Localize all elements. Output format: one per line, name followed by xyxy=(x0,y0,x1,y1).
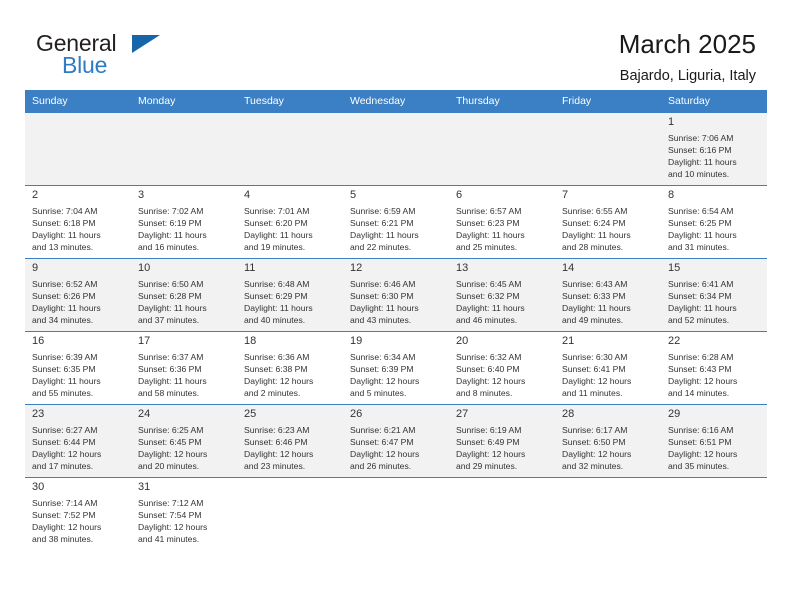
day-cell-content xyxy=(661,478,767,551)
day-number: 22 xyxy=(661,332,767,351)
sun-times-detail: Sunrise: 6:41 AM Sunset: 6:34 PM Dayligh… xyxy=(661,278,767,327)
calendar-day-cell[interactable]: 7Sunrise: 6:55 AM Sunset: 6:24 PM Daylig… xyxy=(555,186,661,259)
day-cell-content: 15Sunrise: 6:41 AM Sunset: 6:34 PM Dayli… xyxy=(661,259,767,331)
day-number: 9 xyxy=(25,259,131,278)
calendar-day-cell[interactable]: 25Sunrise: 6:23 AM Sunset: 6:46 PM Dayli… xyxy=(237,405,343,478)
logo-text-blue: Blue xyxy=(62,54,107,77)
calendar-day-cell[interactable]: 18Sunrise: 6:36 AM Sunset: 6:38 PM Dayli… xyxy=(237,332,343,405)
calendar-day-cell[interactable]: 28Sunrise: 6:17 AM Sunset: 6:50 PM Dayli… xyxy=(555,405,661,478)
day-number: 5 xyxy=(343,186,449,205)
day-number: 14 xyxy=(555,259,661,278)
day-cell-content: 4Sunrise: 7:01 AM Sunset: 6:20 PM Daylig… xyxy=(237,186,343,258)
day-cell-content: 19Sunrise: 6:34 AM Sunset: 6:39 PM Dayli… xyxy=(343,332,449,404)
sun-times-detail: Sunrise: 6:45 AM Sunset: 6:32 PM Dayligh… xyxy=(449,278,555,327)
day-cell-content xyxy=(343,478,449,551)
sunrise-sunset-calendar: Sunday Monday Tuesday Wednesday Thursday… xyxy=(25,90,767,551)
calendar-day-cell[interactable]: 24Sunrise: 6:25 AM Sunset: 6:45 PM Dayli… xyxy=(131,405,237,478)
calendar-week-row: 1Sunrise: 7:06 AM Sunset: 6:16 PM Daylig… xyxy=(25,113,767,186)
day-number: 13 xyxy=(449,259,555,278)
calendar-day-cell[interactable]: 10Sunrise: 6:50 AM Sunset: 6:28 PM Dayli… xyxy=(131,259,237,332)
calendar-day-cell[interactable]: 19Sunrise: 6:34 AM Sunset: 6:39 PM Dayli… xyxy=(343,332,449,405)
sun-times-detail: Sunrise: 6:32 AM Sunset: 6:40 PM Dayligh… xyxy=(449,351,555,400)
sun-times-detail: Sunrise: 7:12 AM Sunset: 7:54 PM Dayligh… xyxy=(131,497,237,546)
day-cell-content: 27Sunrise: 6:19 AM Sunset: 6:49 PM Dayli… xyxy=(449,405,555,477)
weekday-header-sunday: Sunday xyxy=(25,90,131,113)
page-title: March 2025 xyxy=(619,30,756,60)
calendar-day-cell[interactable]: 14Sunrise: 6:43 AM Sunset: 6:33 PM Dayli… xyxy=(555,259,661,332)
calendar-page: General Blue March 2025 Bajardo, Liguria… xyxy=(0,0,792,612)
calendar-day-cell[interactable]: 15Sunrise: 6:41 AM Sunset: 6:34 PM Dayli… xyxy=(661,259,767,332)
calendar-week-row: 16Sunrise: 6:39 AM Sunset: 6:35 PM Dayli… xyxy=(25,332,767,405)
day-number: 26 xyxy=(343,405,449,424)
day-cell-content: 10Sunrise: 6:50 AM Sunset: 6:28 PM Dayli… xyxy=(131,259,237,331)
title-block: March 2025 Bajardo, Liguria, Italy xyxy=(619,30,756,84)
day-cell-content: 17Sunrise: 6:37 AM Sunset: 6:36 PM Dayli… xyxy=(131,332,237,404)
calendar-day-cell[interactable]: 11Sunrise: 6:48 AM Sunset: 6:29 PM Dayli… xyxy=(237,259,343,332)
day-cell-content: 16Sunrise: 6:39 AM Sunset: 6:35 PM Dayli… xyxy=(25,332,131,404)
calendar-day-cell[interactable]: 17Sunrise: 6:37 AM Sunset: 6:36 PM Dayli… xyxy=(131,332,237,405)
day-number: 18 xyxy=(237,332,343,351)
calendar-day-cell[interactable]: 26Sunrise: 6:21 AM Sunset: 6:47 PM Dayli… xyxy=(343,405,449,478)
day-number: 31 xyxy=(131,478,237,497)
sun-times-detail: Sunrise: 6:48 AM Sunset: 6:29 PM Dayligh… xyxy=(237,278,343,327)
day-cell-content: 2Sunrise: 7:04 AM Sunset: 6:18 PM Daylig… xyxy=(25,186,131,258)
calendar-day-cell[interactable]: 3Sunrise: 7:02 AM Sunset: 6:19 PM Daylig… xyxy=(131,186,237,259)
day-number: 25 xyxy=(237,405,343,424)
day-number: 23 xyxy=(25,405,131,424)
day-cell-content: 14Sunrise: 6:43 AM Sunset: 6:33 PM Dayli… xyxy=(555,259,661,331)
day-number: 3 xyxy=(131,186,237,205)
sun-times-detail: Sunrise: 6:25 AM Sunset: 6:45 PM Dayligh… xyxy=(131,424,237,473)
sun-times-detail: Sunrise: 6:52 AM Sunset: 6:26 PM Dayligh… xyxy=(25,278,131,327)
day-cell-content xyxy=(237,113,343,185)
sun-times-detail: Sunrise: 6:34 AM Sunset: 6:39 PM Dayligh… xyxy=(343,351,449,400)
sun-times-detail: Sunrise: 6:19 AM Sunset: 6:49 PM Dayligh… xyxy=(449,424,555,473)
location-subtitle: Bajardo, Liguria, Italy xyxy=(619,68,756,84)
triangle-icon xyxy=(132,35,160,53)
day-cell-content: 20Sunrise: 6:32 AM Sunset: 6:40 PM Dayli… xyxy=(449,332,555,404)
calendar-body: 1Sunrise: 7:06 AM Sunset: 6:16 PM Daylig… xyxy=(25,113,767,551)
day-cell-content: 6Sunrise: 6:57 AM Sunset: 6:23 PM Daylig… xyxy=(449,186,555,258)
day-number: 20 xyxy=(449,332,555,351)
sun-times-detail: Sunrise: 7:04 AM Sunset: 6:18 PM Dayligh… xyxy=(25,205,131,254)
day-cell-content: 22Sunrise: 6:28 AM Sunset: 6:43 PM Dayli… xyxy=(661,332,767,404)
sun-times-detail: Sunrise: 6:30 AM Sunset: 6:41 PM Dayligh… xyxy=(555,351,661,400)
sun-times-detail: Sunrise: 6:57 AM Sunset: 6:23 PM Dayligh… xyxy=(449,205,555,254)
calendar-day-cell[interactable]: 23Sunrise: 6:27 AM Sunset: 6:44 PM Dayli… xyxy=(25,405,131,478)
day-number: 21 xyxy=(555,332,661,351)
calendar-week-row: 23Sunrise: 6:27 AM Sunset: 6:44 PM Dayli… xyxy=(25,405,767,478)
day-cell-content: 3Sunrise: 7:02 AM Sunset: 6:19 PM Daylig… xyxy=(131,186,237,258)
day-cell-content: 30Sunrise: 7:14 AM Sunset: 7:52 PM Dayli… xyxy=(25,478,131,551)
day-number: 17 xyxy=(131,332,237,351)
calendar-week-row: 30Sunrise: 7:14 AM Sunset: 7:52 PM Dayli… xyxy=(25,478,767,551)
weekday-header-row: Sunday Monday Tuesday Wednesday Thursday… xyxy=(25,90,767,113)
calendar-empty-cell xyxy=(343,113,449,186)
day-number: 12 xyxy=(343,259,449,278)
day-cell-content: 26Sunrise: 6:21 AM Sunset: 6:47 PM Dayli… xyxy=(343,405,449,477)
sun-times-detail: Sunrise: 6:39 AM Sunset: 6:35 PM Dayligh… xyxy=(25,351,131,400)
calendar-day-cell[interactable]: 5Sunrise: 6:59 AM Sunset: 6:21 PM Daylig… xyxy=(343,186,449,259)
calendar-day-cell[interactable]: 20Sunrise: 6:32 AM Sunset: 6:40 PM Dayli… xyxy=(449,332,555,405)
sun-times-detail: Sunrise: 6:43 AM Sunset: 6:33 PM Dayligh… xyxy=(555,278,661,327)
day-cell-content xyxy=(237,478,343,551)
day-number: 16 xyxy=(25,332,131,351)
calendar-empty-cell xyxy=(449,113,555,186)
day-number: 2 xyxy=(25,186,131,205)
sun-times-detail: Sunrise: 7:02 AM Sunset: 6:19 PM Dayligh… xyxy=(131,205,237,254)
day-number: 4 xyxy=(237,186,343,205)
sun-times-detail: Sunrise: 6:27 AM Sunset: 6:44 PM Dayligh… xyxy=(25,424,131,473)
calendar-day-cell[interactable]: 21Sunrise: 6:30 AM Sunset: 6:41 PM Dayli… xyxy=(555,332,661,405)
day-number: 8 xyxy=(661,186,767,205)
calendar-week-row: 9Sunrise: 6:52 AM Sunset: 6:26 PM Daylig… xyxy=(25,259,767,332)
sun-times-detail: Sunrise: 7:01 AM Sunset: 6:20 PM Dayligh… xyxy=(237,205,343,254)
day-number: 24 xyxy=(131,405,237,424)
day-cell-content xyxy=(555,478,661,551)
day-number: 1 xyxy=(661,113,767,132)
day-cell-content: 18Sunrise: 6:36 AM Sunset: 6:38 PM Dayli… xyxy=(237,332,343,404)
calendar-day-cell[interactable]: 29Sunrise: 6:16 AM Sunset: 6:51 PM Dayli… xyxy=(661,405,767,478)
sun-times-detail: Sunrise: 6:46 AM Sunset: 6:30 PM Dayligh… xyxy=(343,278,449,327)
calendar-day-cell[interactable]: 27Sunrise: 6:19 AM Sunset: 6:49 PM Dayli… xyxy=(449,405,555,478)
day-number: 11 xyxy=(237,259,343,278)
day-number: 28 xyxy=(555,405,661,424)
day-cell-content: 21Sunrise: 6:30 AM Sunset: 6:41 PM Dayli… xyxy=(555,332,661,404)
day-cell-content xyxy=(449,113,555,185)
sun-times-detail: Sunrise: 7:06 AM Sunset: 6:16 PM Dayligh… xyxy=(661,132,767,181)
calendar-empty-cell xyxy=(661,478,767,551)
sun-times-detail: Sunrise: 6:59 AM Sunset: 6:21 PM Dayligh… xyxy=(343,205,449,254)
calendar-day-cell[interactable]: 30Sunrise: 7:14 AM Sunset: 7:52 PM Dayli… xyxy=(25,478,131,551)
day-number: 15 xyxy=(661,259,767,278)
day-cell-content: 13Sunrise: 6:45 AM Sunset: 6:32 PM Dayli… xyxy=(449,259,555,331)
day-number: 6 xyxy=(449,186,555,205)
day-number: 29 xyxy=(661,405,767,424)
day-cell-content: 5Sunrise: 6:59 AM Sunset: 6:21 PM Daylig… xyxy=(343,186,449,258)
day-number: 30 xyxy=(25,478,131,497)
sun-times-detail: Sunrise: 6:55 AM Sunset: 6:24 PM Dayligh… xyxy=(555,205,661,254)
day-cell-content xyxy=(343,113,449,185)
weekday-header-thursday: Thursday xyxy=(449,90,555,113)
calendar-day-cell[interactable]: 22Sunrise: 6:28 AM Sunset: 6:43 PM Dayli… xyxy=(661,332,767,405)
calendar-empty-cell xyxy=(237,478,343,551)
day-cell-content: 1Sunrise: 7:06 AM Sunset: 6:16 PM Daylig… xyxy=(661,113,767,185)
sun-times-detail: Sunrise: 6:54 AM Sunset: 6:25 PM Dayligh… xyxy=(661,205,767,254)
calendar-day-cell[interactable]: 2Sunrise: 7:04 AM Sunset: 6:18 PM Daylig… xyxy=(25,186,131,259)
sun-times-detail: Sunrise: 6:21 AM Sunset: 6:47 PM Dayligh… xyxy=(343,424,449,473)
day-cell-content xyxy=(449,478,555,551)
sun-times-detail: Sunrise: 6:37 AM Sunset: 6:36 PM Dayligh… xyxy=(131,351,237,400)
day-cell-content: 31Sunrise: 7:12 AM Sunset: 7:54 PM Dayli… xyxy=(131,478,237,551)
calendar-day-cell[interactable]: 31Sunrise: 7:12 AM Sunset: 7:54 PM Dayli… xyxy=(131,478,237,551)
general-blue-logo[interactable]: General Blue xyxy=(36,30,166,82)
calendar-day-cell[interactable]: 8Sunrise: 6:54 AM Sunset: 6:25 PM Daylig… xyxy=(661,186,767,259)
weekday-header-saturday: Saturday xyxy=(661,90,767,113)
calendar-empty-cell xyxy=(555,113,661,186)
sun-times-detail: Sunrise: 6:50 AM Sunset: 6:28 PM Dayligh… xyxy=(131,278,237,327)
day-number: 7 xyxy=(555,186,661,205)
day-cell-content: 29Sunrise: 6:16 AM Sunset: 6:51 PM Dayli… xyxy=(661,405,767,477)
calendar-empty-cell xyxy=(237,113,343,186)
calendar-day-cell[interactable]: 16Sunrise: 6:39 AM Sunset: 6:35 PM Dayli… xyxy=(25,332,131,405)
day-number: 27 xyxy=(449,405,555,424)
calendar-empty-cell xyxy=(343,478,449,551)
calendar-day-cell[interactable]: 13Sunrise: 6:45 AM Sunset: 6:32 PM Dayli… xyxy=(449,259,555,332)
calendar-empty-cell xyxy=(555,478,661,551)
calendar-day-cell[interactable]: 6Sunrise: 6:57 AM Sunset: 6:23 PM Daylig… xyxy=(449,186,555,259)
day-cell-content: 25Sunrise: 6:23 AM Sunset: 6:46 PM Dayli… xyxy=(237,405,343,477)
calendar-day-cell[interactable]: 4Sunrise: 7:01 AM Sunset: 6:20 PM Daylig… xyxy=(237,186,343,259)
page-header: General Blue March 2025 Bajardo, Liguria… xyxy=(0,0,792,72)
day-cell-content xyxy=(25,113,131,185)
day-cell-content: 9Sunrise: 6:52 AM Sunset: 6:26 PM Daylig… xyxy=(25,259,131,331)
calendar-empty-cell xyxy=(131,113,237,186)
calendar-day-cell[interactable]: 9Sunrise: 6:52 AM Sunset: 6:26 PM Daylig… xyxy=(25,259,131,332)
sun-times-detail: Sunrise: 7:14 AM Sunset: 7:52 PM Dayligh… xyxy=(25,497,131,546)
day-cell-content: 23Sunrise: 6:27 AM Sunset: 6:44 PM Dayli… xyxy=(25,405,131,477)
day-cell-content xyxy=(131,113,237,185)
day-cell-content: 8Sunrise: 6:54 AM Sunset: 6:25 PM Daylig… xyxy=(661,186,767,258)
day-cell-content: 11Sunrise: 6:48 AM Sunset: 6:29 PM Dayli… xyxy=(237,259,343,331)
day-cell-content: 12Sunrise: 6:46 AM Sunset: 6:30 PM Dayli… xyxy=(343,259,449,331)
calendar-day-cell[interactable]: 1Sunrise: 7:06 AM Sunset: 6:16 PM Daylig… xyxy=(661,113,767,186)
day-cell-content: 7Sunrise: 6:55 AM Sunset: 6:24 PM Daylig… xyxy=(555,186,661,258)
calendar-week-row: 2Sunrise: 7:04 AM Sunset: 6:18 PM Daylig… xyxy=(25,186,767,259)
weekday-header-friday: Friday xyxy=(555,90,661,113)
day-cell-content: 24Sunrise: 6:25 AM Sunset: 6:45 PM Dayli… xyxy=(131,405,237,477)
day-number: 10 xyxy=(131,259,237,278)
weekday-header-tuesday: Tuesday xyxy=(237,90,343,113)
calendar-empty-cell xyxy=(25,113,131,186)
calendar-empty-cell xyxy=(449,478,555,551)
sun-times-detail: Sunrise: 6:23 AM Sunset: 6:46 PM Dayligh… xyxy=(237,424,343,473)
sun-times-detail: Sunrise: 6:36 AM Sunset: 6:38 PM Dayligh… xyxy=(237,351,343,400)
sun-times-detail: Sunrise: 6:28 AM Sunset: 6:43 PM Dayligh… xyxy=(661,351,767,400)
day-cell-content xyxy=(555,113,661,185)
sun-times-detail: Sunrise: 6:17 AM Sunset: 6:50 PM Dayligh… xyxy=(555,424,661,473)
calendar-day-cell[interactable]: 12Sunrise: 6:46 AM Sunset: 6:30 PM Dayli… xyxy=(343,259,449,332)
weekday-header-wednesday: Wednesday xyxy=(343,90,449,113)
day-cell-content: 28Sunrise: 6:17 AM Sunset: 6:50 PM Dayli… xyxy=(555,405,661,477)
sun-times-detail: Sunrise: 6:16 AM Sunset: 6:51 PM Dayligh… xyxy=(661,424,767,473)
day-number: 19 xyxy=(343,332,449,351)
weekday-header-monday: Monday xyxy=(131,90,237,113)
